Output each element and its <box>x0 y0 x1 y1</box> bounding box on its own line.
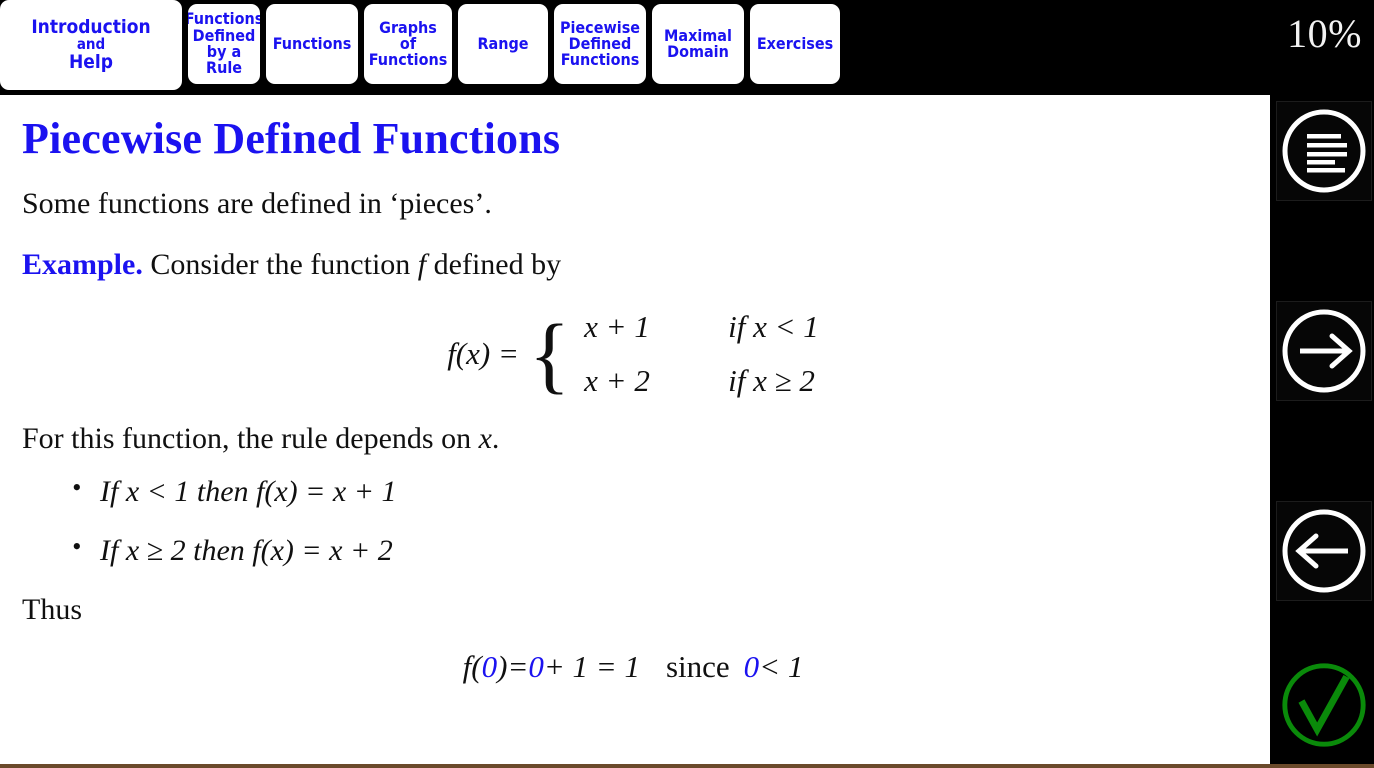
final-substituted-zero: 0 <box>528 649 544 685</box>
nav-tab-label-line: Functions <box>369 52 448 68</box>
nav-tab-exercises[interactable]: Exercises <box>750 4 840 84</box>
page-title: Piecewise Defined Functions <box>22 117 1244 161</box>
piecewise-expression: x + 2 <box>584 354 696 408</box>
nav-tab-functions-defined-by-a-rule[interactable]: Functions Defined by a Rule <box>188 4 260 84</box>
list-item: If x < 1 then f(x) = x + 1 <box>100 475 1244 508</box>
check-tick-icon <box>1277 657 1371 753</box>
nav-tab-label-line: Domain <box>667 44 729 60</box>
final-condition-zero: 0 <box>744 649 760 685</box>
nav-tab-range[interactable]: Range <box>458 4 548 84</box>
example-paragraph: Example. Consider the function f defined… <box>22 248 1244 283</box>
nav-tab-label-line: Functions <box>273 36 352 52</box>
bottom-rule-divider <box>0 764 1374 768</box>
sidebar-button-contents[interactable] <box>1276 101 1372 201</box>
contents-icon <box>1278 105 1370 197</box>
presentation-window: Introduction and Help Functions Defined … <box>0 0 1374 768</box>
example-text-b: defined by <box>434 248 561 281</box>
piecewise-condition: if x < 1 <box>696 300 819 354</box>
left-brace-glyph: { <box>527 321 584 388</box>
depends-text: For this function, the rule depends on <box>22 422 471 455</box>
example-variable: f <box>418 248 426 281</box>
navigation-sidebar <box>1270 95 1374 765</box>
nav-tab-functions[interactable]: Functions <box>266 4 358 84</box>
example-text-a: Consider the function <box>150 248 410 281</box>
piecewise-condition: if x ≥ 2 <box>696 354 815 408</box>
intro-paragraph: Some functions are defined in ‘pieces’. <box>22 187 1244 222</box>
nav-tab-label-line: Help <box>69 53 113 72</box>
top-navigation-bar: Introduction and Help Functions Defined … <box>0 0 1374 95</box>
depends-paragraph: For this function, the rule depends on x… <box>22 422 1244 457</box>
final-condition-rest: < 1 <box>759 649 803 685</box>
list-item: If x ≥ 2 then f(x) = x + 2 <box>100 534 1244 567</box>
nav-tab-introduction-and-help[interactable]: Introduction and Help <box>0 0 182 90</box>
sidebar-button-next[interactable] <box>1276 301 1372 401</box>
rule-bullet-list: If x < 1 then f(x) = x + 1 If x ≥ 2 then… <box>22 475 1244 567</box>
depends-period: . <box>492 422 500 455</box>
nav-tab-list: Introduction and Help Functions Defined … <box>0 0 846 95</box>
depends-variable: x <box>479 422 492 455</box>
back-arrow-icon <box>1278 505 1370 597</box>
nav-tab-label-line: Range <box>477 36 528 52</box>
next-arrow-icon <box>1278 305 1370 397</box>
final-f-open: f( <box>463 649 482 685</box>
piecewise-row: x + 2 if x ≥ 2 <box>584 354 819 408</box>
piecewise-expression: x + 1 <box>584 300 696 354</box>
sidebar-button-check[interactable] <box>1276 651 1372 759</box>
piecewise-formula: f(x) = { x + 1 if x < 1 x + 2 if x ≥ 2 <box>22 300 1244 408</box>
sidebar-button-back[interactable] <box>1276 501 1372 601</box>
final-f-close: ) <box>497 649 507 685</box>
final-equals: = <box>507 649 528 685</box>
nav-tab-maximal-domain[interactable]: Maximal Domain <box>652 4 744 84</box>
nav-tab-graphs-of-functions[interactable]: Graphs of Functions <box>364 4 452 84</box>
final-result: + 1 = 1 <box>544 649 640 685</box>
final-evaluation-formula: f(0) = 0 + 1 = 1 since 0 < 1 <box>22 649 1244 685</box>
thus-paragraph: Thus <box>22 593 1244 628</box>
slide-content-area: Piecewise Defined Functions Some functio… <box>0 95 1270 765</box>
final-since-word: since <box>640 649 744 685</box>
piecewise-lhs: f(x) = <box>447 336 527 372</box>
example-keyword: Example. <box>22 248 143 281</box>
nav-tab-label-line: Rule <box>206 60 242 76</box>
nav-tab-label-line: Functions <box>561 52 640 68</box>
nav-tab-piecewise-defined-functions[interactable]: Piecewise Defined Functions <box>554 4 646 84</box>
piecewise-row: x + 1 if x < 1 <box>584 300 819 354</box>
final-argument-zero: 0 <box>482 649 498 685</box>
progress-percent: 10% <box>1287 14 1362 54</box>
nav-tab-label-line: Exercises <box>757 36 833 52</box>
